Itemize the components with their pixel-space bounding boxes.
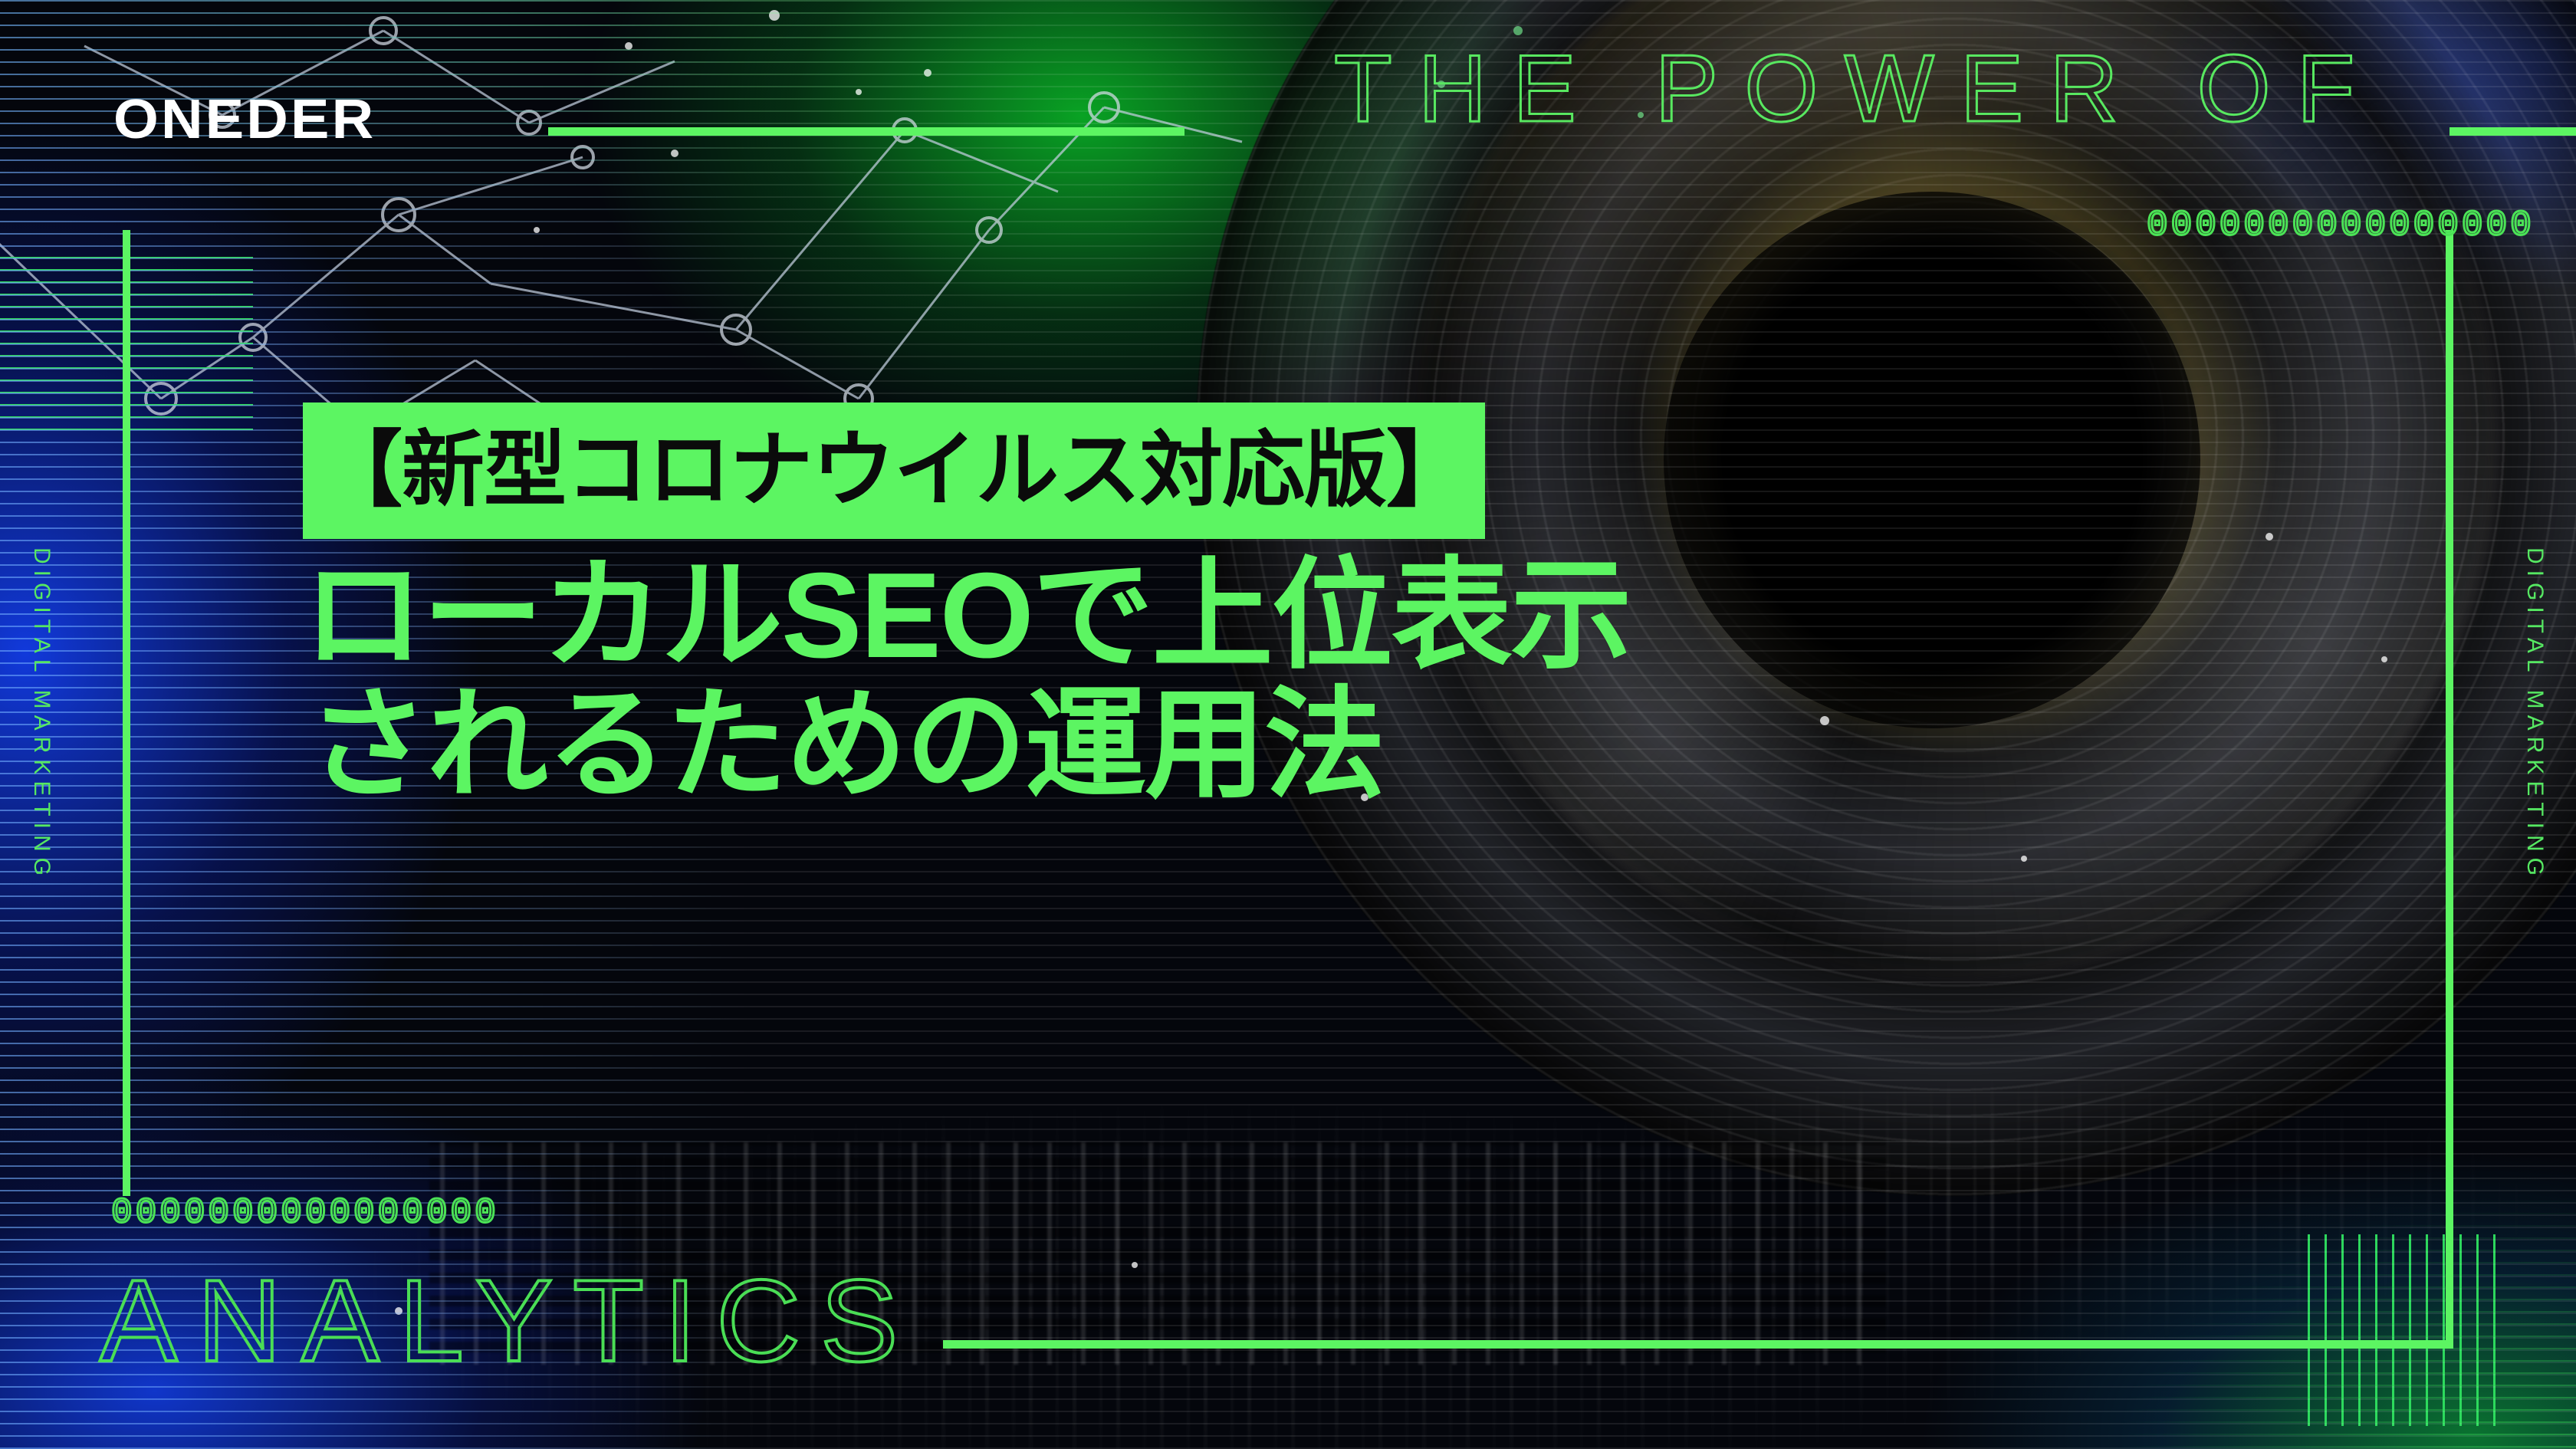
scanlines-green-bottom xyxy=(1809,1127,2576,1449)
eyebrow-the-power-of: THE POWER OF xyxy=(1334,34,2381,143)
frame-line-left xyxy=(123,230,130,1196)
divider-line-header xyxy=(548,127,1184,136)
page-title-line-2: されるための運用法 xyxy=(307,681,2104,810)
vertical-label-left: DIGITAL MARKETING xyxy=(28,531,54,899)
frame-line-right xyxy=(2446,230,2453,1348)
footer-word-analytics: ANALYTICS xyxy=(100,1254,918,1388)
binary-strip-top-right: 0000000000000000 xyxy=(2147,205,2535,245)
divider-line-header-right xyxy=(2449,127,2576,136)
page-title-line-1: ローカルSEOで上位表示 xyxy=(303,548,1631,683)
status-badge: 【新型コロナウイルス対応版】 xyxy=(303,402,1485,539)
brand-logo[interactable]: ONEDER xyxy=(113,88,376,151)
frame-line-bottom xyxy=(943,1340,2453,1349)
vertical-label-right-text: DIGITAL MARKETING xyxy=(2522,547,2548,882)
binary-strip-bottom-left: 0000000000000000 xyxy=(111,1193,499,1233)
hero-banner: ONEDER THE POWER OF 0000000000000000 000… xyxy=(0,0,2576,1449)
headline-block: 【新型コロナウイルス対応版】 ローカルSEOで上位表示 されるための運用法 xyxy=(303,402,2104,810)
vertical-label-left-text: DIGITAL MARKETING xyxy=(29,547,54,882)
page-title: ローカルSEOで上位表示 されるための運用法 xyxy=(303,551,2104,810)
vertical-label-right: DIGITAL MARKETING xyxy=(2522,531,2548,899)
